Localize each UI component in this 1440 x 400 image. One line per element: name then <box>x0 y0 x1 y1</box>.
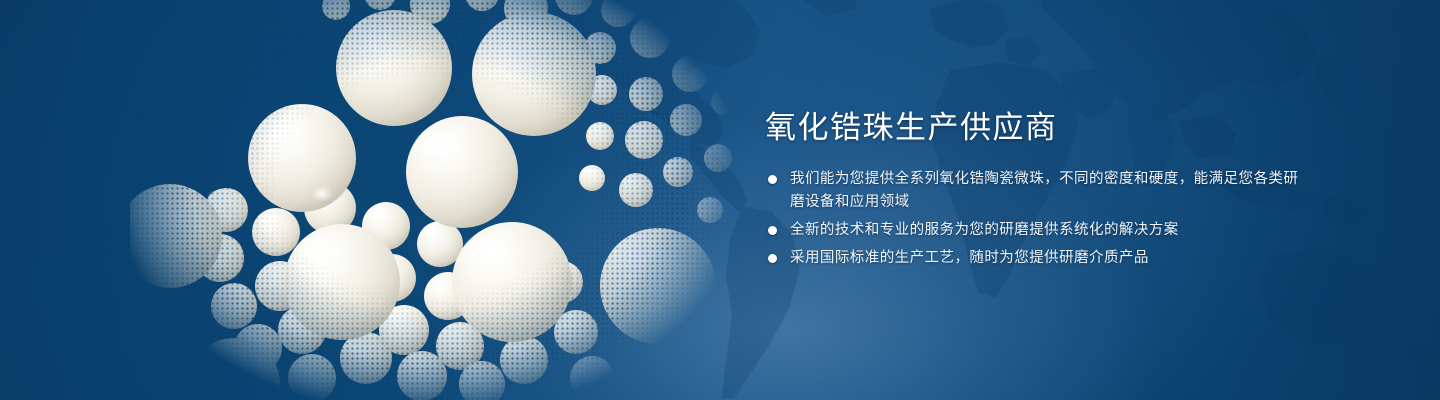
filled-circle-icon <box>768 226 777 235</box>
feature-bullet-text: 全新的技术和专业的服务为您的研磨提供系统化的解决方案 <box>790 219 1305 242</box>
zirconia-beads-image <box>130 0 740 400</box>
filled-circle-icon <box>768 175 777 184</box>
feature-bullet-list: 我们能为您提供全系列氧化锆陶瓷微珠，不同的密度和硬度，能满足您各类研磨设备和应用… <box>765 168 1305 270</box>
feature-bullet-item: 采用国际标准的生产工艺，随时为您提供研磨介质产品 <box>765 247 1305 270</box>
feature-bullet-text: 采用国际标准的生产工艺，随时为您提供研磨介质产品 <box>790 247 1305 270</box>
hero-banner: 氧化锆珠生产供应商 我们能为您提供全系列氧化锆陶瓷微珠，不同的密度和硬度，能满足… <box>0 0 1440 400</box>
banner-headline: 氧化锆珠生产供应商 <box>765 108 1305 148</box>
filled-circle-icon <box>768 254 777 263</box>
feature-bullet-item: 全新的技术和专业的服务为您的研磨提供系统化的解决方案 <box>765 219 1305 242</box>
feature-bullet-item: 我们能为您提供全系列氧化锆陶瓷微珠，不同的密度和硬度，能满足您各类研磨设备和应用… <box>765 168 1305 214</box>
banner-copy: 氧化锆珠生产供应商 我们能为您提供全系列氧化锆陶瓷微珠，不同的密度和硬度，能满足… <box>765 108 1305 275</box>
feature-bullet-text: 我们能为您提供全系列氧化锆陶瓷微珠，不同的密度和硬度，能满足您各类研磨设备和应用… <box>790 168 1305 214</box>
